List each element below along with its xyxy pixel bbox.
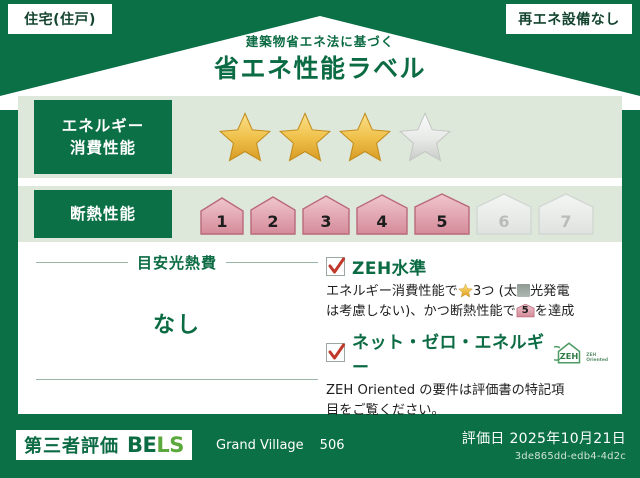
star-filled-icon (218, 110, 272, 164)
check-body-part1: エネルギー消費性能で (326, 284, 458, 299)
checkbox-checked-icon[interactable] (326, 257, 345, 276)
insulation-performance-value: 1 2 3 (172, 186, 622, 242)
energy-performance-label: エネルギー 消費性能 (34, 100, 172, 174)
evaluation-info: 評価日 2025年10月21日 3de865dd-edb4-4d2c (462, 428, 626, 462)
evaluation-id: 3de865dd-edb4-4d2c (462, 451, 626, 462)
bels-certification-mark: 第三者評価 BELS (16, 430, 192, 460)
insulation-performance-label: 断熱性能 (34, 190, 172, 238)
row-energy-performance: エネルギー 消費性能 (18, 96, 622, 178)
check-head: ネット・ゼロ・エネルギー ZEH ZEH Oriented (326, 328, 608, 378)
bels-letter-e: E (143, 433, 157, 457)
grade-value: 3 (300, 212, 352, 231)
check-body-line1: ZEH Oriented の要件は評価書の特記項 (326, 383, 564, 398)
inline-grade-badge: 5 (516, 303, 535, 318)
star-filled-icon (338, 110, 392, 164)
property-unit: 506 (320, 438, 345, 453)
bels-letter-s: S (169, 433, 184, 457)
evaluation-date-value: 2025年10月21日 (509, 431, 626, 447)
utility-cost-bottom-rule (36, 379, 318, 380)
bels-letter-l: L (156, 433, 169, 457)
grade-value: 2 (248, 212, 298, 231)
main-panel: エネルギー 消費性能 (18, 96, 622, 414)
insulation-grade-scale: 1 2 3 (198, 191, 596, 237)
check-body: ZEH Oriented の要件は評価書の特記項 目をご覧ください。 (326, 381, 608, 422)
redacted-block (517, 284, 530, 297)
energy-label-line1: エネルギー (62, 115, 145, 137)
check-body-part2: 光発電 (530, 284, 570, 299)
row-divider (18, 178, 622, 182)
label-title: 建築物省エネ法に基づく 省エネ性能ラベル (0, 36, 640, 82)
row-insulation-performance: 断熱性能 1 2 (18, 186, 622, 242)
property-name: Grand Village (216, 438, 304, 453)
bels-jp-label: 第三者評価 (24, 432, 119, 458)
zeh-house-logo-icon: ZEH ZEH Oriented (554, 341, 608, 365)
grade-badge-6: 6 (474, 191, 534, 237)
energy-label-line2: 消費性能 (62, 137, 145, 159)
inline-star-icon (458, 283, 473, 298)
title-main: 省エネ性能ラベル (0, 55, 640, 83)
bels-logo-text: BELS (127, 433, 184, 457)
evaluation-date: 評価日 2025年10月21日 (462, 428, 626, 448)
rule-right (226, 262, 318, 263)
label-footer: 第三者評価 BELS Grand Village 506 評価日 2025年10… (0, 418, 640, 478)
star-rating (218, 110, 452, 164)
grade-badge-7: 7 (536, 191, 596, 237)
grade-badge-5: 5 (412, 191, 472, 237)
utility-cost-section: 目安光熱費 なし (18, 252, 318, 427)
evaluation-date-label: 評価日 (462, 431, 505, 447)
zeh-logo-tag: ZEH Oriented (586, 353, 608, 365)
property-info: Grand Village 506 (216, 438, 345, 453)
svg-text:ZEH: ZEH (560, 351, 579, 361)
rule-left (36, 262, 128, 263)
check-body-star-count: 3つ (太 (473, 284, 517, 299)
grade-value: 5 (412, 212, 472, 231)
inline-grade-value: 5 (516, 303, 535, 319)
grade-badge-2: 2 (248, 194, 298, 237)
utility-cost-heading: 目安光熱費 (36, 252, 318, 273)
check-item-net-zero-energy: ネット・ゼロ・エネルギー ZEH ZEH Oriented (326, 328, 608, 422)
zeh-tag-line2: Oriented (586, 358, 608, 363)
grade-badge-1: 1 (198, 195, 246, 237)
energy-performance-value (172, 96, 622, 178)
grade-value: 6 (474, 212, 534, 231)
check-body-line2: 目をご覧ください。 (326, 403, 445, 418)
check-body-part4: を達成 (535, 304, 575, 319)
check-body-part3: は考慮しない)、かつ断熱性能で (326, 304, 516, 319)
title-subtitle: 建築物省エネ法に基づく (0, 36, 640, 49)
badge-building-type: 住宅(住戸) (8, 4, 112, 34)
checkbox-checked-icon[interactable] (326, 343, 345, 362)
check-body: エネルギー消費性能で3つ (太光発電 は考慮しない)、かつ断熱性能で5を達成 (326, 282, 608, 323)
check-title: ZEH水準 (352, 254, 427, 279)
lower-section: 目安光熱費 なし ZEH水準 (18, 242, 622, 427)
energy-performance-label: 住宅(住戸) 再エネ設備なし 建築物省エネ法に基づく 省エネ性能ラベル エネルギ… (0, 0, 640, 478)
star-empty-icon (398, 110, 452, 164)
star-filled-icon (278, 110, 332, 164)
grade-value: 1 (198, 212, 246, 231)
badge-renewable-energy: 再エネ設備なし (506, 4, 632, 34)
grade-badge-4: 4 (354, 192, 410, 237)
checks-section: ZEH水準 エネルギー消費性能で3つ (太光発電 は考慮しない)、かつ断熱性能で… (318, 252, 622, 427)
bels-letter-b: B (127, 433, 143, 457)
grade-value: 4 (354, 212, 410, 231)
check-title: ネット・ゼロ・エネルギー (352, 328, 545, 378)
grade-value: 7 (536, 212, 596, 231)
utility-cost-value: なし (36, 307, 318, 339)
grade-badge-3: 3 (300, 193, 352, 237)
utility-cost-title: 目安光熱費 (137, 252, 217, 273)
check-item-zeh-level: ZEH水準 エネルギー消費性能で3つ (太光発電 は考慮しない)、かつ断熱性能で… (326, 254, 608, 323)
check-head: ZEH水準 (326, 254, 608, 279)
